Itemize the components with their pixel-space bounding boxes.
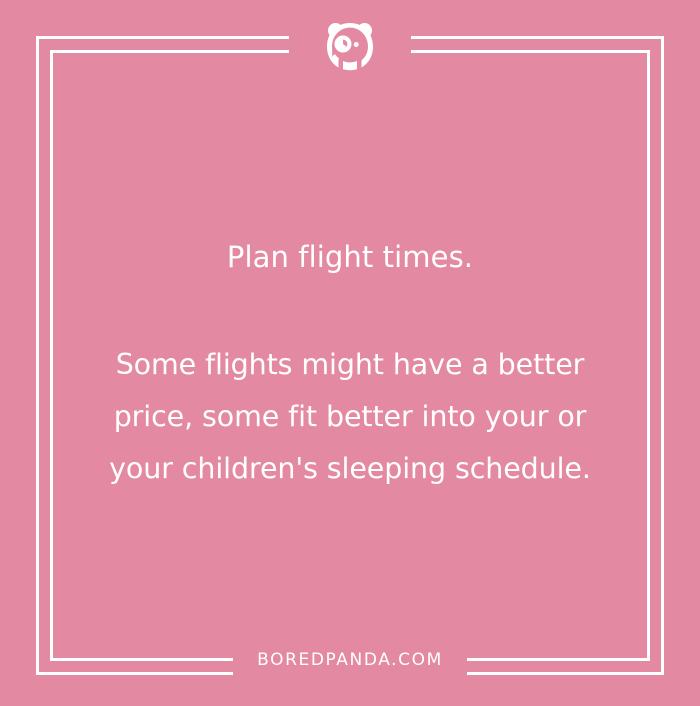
frame-outer-left bbox=[36, 36, 39, 675]
frame-inner-top-right bbox=[411, 50, 650, 53]
quote-body-line-2: price, some fit better into your or bbox=[109, 391, 591, 443]
frame-outer-top-right bbox=[411, 36, 664, 39]
quote-body-line-3: your children's sleeping schedule. bbox=[109, 443, 591, 495]
quote-body-line-1: Some flights might have a better bbox=[109, 339, 591, 391]
quote-card: Plan flight times. Some flights might ha… bbox=[0, 0, 700, 706]
bored-panda-logo-icon bbox=[322, 18, 378, 74]
frame-inner-left bbox=[50, 50, 53, 661]
quote-content: Plan flight times. Some flights might ha… bbox=[60, 96, 640, 636]
frame-outer-right bbox=[661, 36, 664, 675]
footer: BOREDPANDA.COM bbox=[0, 650, 700, 670]
frame-outer-bottom-right bbox=[467, 672, 664, 675]
quote-headline: Plan flight times. bbox=[227, 237, 473, 277]
frame-inner-top-left bbox=[50, 50, 289, 53]
frame-inner-right bbox=[647, 50, 650, 661]
frame-outer-top-left bbox=[36, 36, 289, 39]
quote-body: Some flights might have a better price, … bbox=[109, 339, 591, 495]
frame-outer-bottom-left bbox=[36, 672, 233, 675]
site-wordmark: BOREDPANDA.COM bbox=[257, 650, 443, 670]
